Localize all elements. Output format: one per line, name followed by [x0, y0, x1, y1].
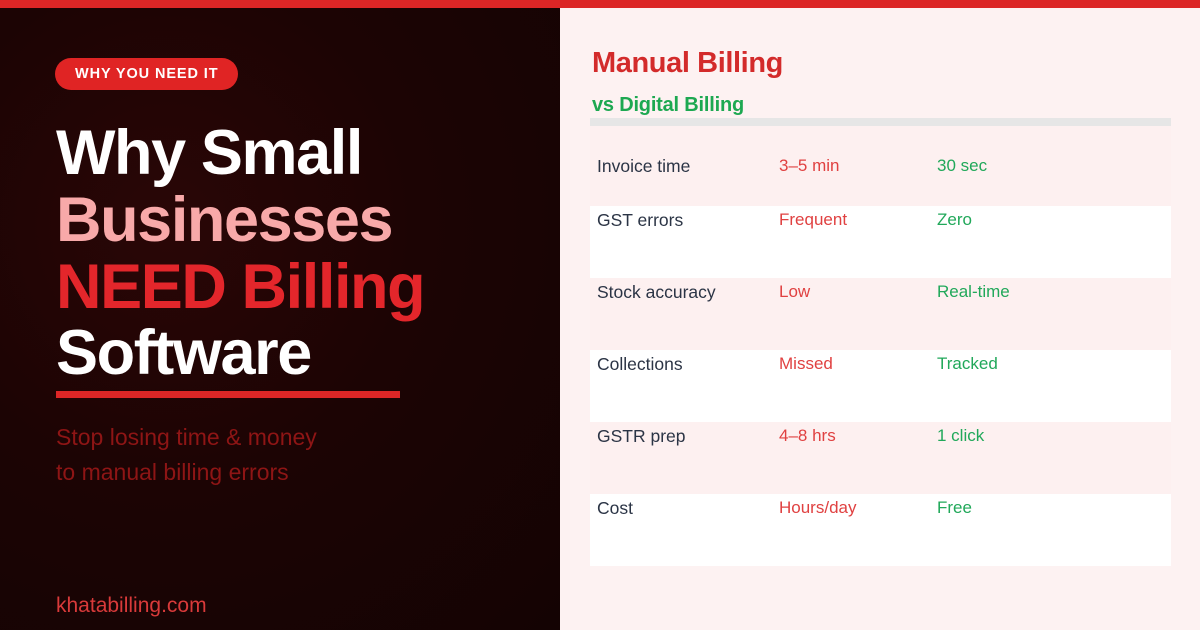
row-manual: Low: [779, 278, 937, 302]
row-digital: 30 sec: [937, 126, 1157, 176]
table-header-row: Task Manual Digital: [590, 118, 1171, 126]
row-task: Invoice time: [597, 126, 779, 177]
table-row: GST errors Frequent Zero: [590, 206, 1171, 278]
row-digital: Tracked: [937, 350, 1157, 374]
row-manual: Frequent: [779, 206, 937, 230]
headline-line-4: Software: [56, 320, 526, 387]
eyebrow-badge: WHY YOU NEED IT: [55, 58, 238, 90]
hero-subtitle: Stop losing time & money to manual billi…: [56, 420, 496, 490]
page-title: Why Small Businesses NEED Billing Softwa…: [56, 120, 526, 387]
comparison-subtitle: vs Digital Billing: [592, 94, 744, 117]
row-manual: 4–8 hrs: [779, 422, 937, 446]
table-row: Invoice time 3–5 min 30 sec: [590, 126, 1171, 206]
row-digital: Zero: [937, 206, 1157, 230]
headline-line-1: Why Small: [56, 120, 526, 187]
top-accent-bar: [0, 0, 1200, 8]
left-hero-panel: WHY YOU NEED IT Why Small Businesses NEE…: [0, 8, 560, 630]
row-task: GSTR prep: [597, 422, 779, 447]
headline-underline: [56, 391, 400, 398]
headline-line-2: Businesses: [56, 187, 526, 254]
row-digital: Free: [937, 494, 1157, 518]
row-task: Stock accuracy: [597, 278, 779, 303]
row-task: GST errors: [597, 206, 779, 231]
table-row: Stock accuracy Low Real-time: [590, 278, 1171, 350]
row-manual: Hours/day: [779, 494, 937, 518]
comparison-table: Task Manual Digital Invoice time 3–5 min…: [590, 118, 1171, 566]
row-manual: 3–5 min: [779, 126, 937, 176]
table-row: Collections Missed Tracked: [590, 350, 1171, 422]
comparison-title: Manual Billing: [592, 47, 783, 80]
row-task: Collections: [597, 350, 779, 375]
eyebrow-badge-label: WHY YOU NEED IT: [75, 66, 218, 82]
site-url[interactable]: khatabilling.com: [56, 594, 207, 618]
table-row: Cost Hours/day Free: [590, 494, 1171, 566]
table-row: GSTR prep 4–8 hrs 1 click: [590, 422, 1171, 494]
row-digital: Real-time: [937, 278, 1157, 302]
row-manual: Missed: [779, 350, 937, 374]
hero-subtitle-line-1: Stop losing time & money: [56, 420, 496, 455]
headline-line-3: NEED Billing: [56, 254, 526, 321]
hero-subtitle-line-2: to manual billing errors: [56, 455, 496, 490]
right-comparison-panel: Manual Billing vs Digital Billing Task M…: [560, 8, 1200, 630]
row-digital: 1 click: [937, 422, 1157, 446]
row-task: Cost: [597, 494, 779, 519]
